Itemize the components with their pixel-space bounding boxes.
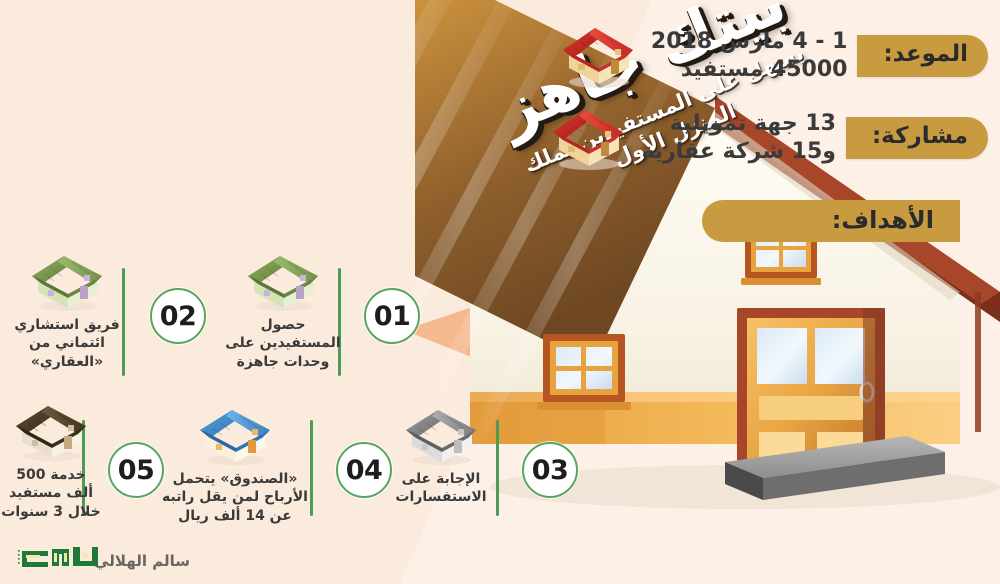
- goal-item-01: حصول المستفيدين على وحدات جاهزة: [224, 250, 342, 371]
- house-red-roof-icon: [545, 100, 631, 176]
- house-green-roof-icon: [240, 250, 326, 312]
- house-brown-roof-icon: [8, 400, 94, 462]
- goal-caption-01-line-3: وحدات جاهزة: [225, 353, 340, 371]
- goal-caption-04-line-2: الأرباح لمن يقل راتبه: [162, 488, 308, 506]
- goal-caption-03-line-1: الإجابة على: [395, 470, 486, 488]
- goal-number-01-label: 01: [374, 301, 411, 332]
- goal-number-05-label: 05: [118, 455, 155, 486]
- goal-caption-02: فريق استشاري ائتماني من «العقاري»: [14, 316, 119, 371]
- goal-number-02[interactable]: 02: [150, 288, 206, 344]
- goal-caption-01: حصول المستفيدين على وحدات جاهزة: [225, 316, 340, 371]
- goal-caption-02-line-3: «العقاري»: [14, 353, 119, 371]
- goals-header: الأهداف:: [702, 200, 960, 242]
- house-red-roof-icon: [555, 18, 641, 94]
- goal-caption-05: خدمة 500 ألف مستفيد خلال 3 سنوات: [1, 466, 101, 521]
- goal-item-02: فريق استشاري ائتماني من «العقاري»: [8, 250, 126, 371]
- goal-caption-02-line-1: فريق استشاري: [14, 316, 119, 334]
- goal-caption-02-line-2: ائتماني من: [14, 334, 119, 352]
- lower-window: [537, 334, 631, 410]
- goal-item-03: الإجابة على الاستفسارات: [382, 404, 500, 507]
- front-door: [737, 308, 885, 466]
- goal-caption-04: «الصندوق» يتحمل الأرباح لمن يقل راتبه عن…: [162, 470, 308, 525]
- goal-caption-04-line-1: «الصندوق» يتحمل: [162, 470, 308, 488]
- okaz-logo[interactable]: [14, 543, 110, 575]
- goal-number-02-label: 02: [160, 301, 197, 332]
- goal-caption-05-line-3: خلال 3 سنوات: [1, 503, 101, 521]
- goal-caption-03: الإجابة على الاستفسارات: [395, 470, 486, 507]
- infographic-canvas: بيتك جاهز يسهل على المستفيدين تملك المنز…: [0, 0, 1000, 584]
- info-value-participation-line-2: و15 شركة عقارية: [641, 138, 835, 166]
- info-row-participation: مشاركة: 13 جهة تمويلية و15 شركة عقارية: [545, 100, 988, 176]
- info-label-participation: مشاركة:: [846, 117, 988, 158]
- goal-divider-04: [310, 420, 313, 516]
- goal-caption-05-line-2: ألف مستفيد: [1, 484, 101, 502]
- info-value-participation: 13 جهة تمويلية و15 شركة عقارية: [641, 110, 835, 166]
- goal-caption-01-line-1: حصول: [225, 316, 340, 334]
- info-value-date-line-2: 45000 مستفيد: [651, 56, 848, 84]
- goal-number-05[interactable]: 05: [108, 442, 164, 498]
- info-value-date-line-1: 1 - 4 مارس 2018: [651, 28, 848, 56]
- house-blue-roof-icon: [192, 404, 278, 466]
- goal-caption-01-line-2: المستفيدين على: [225, 334, 340, 352]
- info-value-date: 1 - 4 مارس 2018 45000 مستفيد: [651, 28, 848, 84]
- goal-caption-04-line-3: عن 14 ألف ريال: [162, 507, 308, 525]
- info-value-participation-line-1: 13 جهة تمويلية: [641, 110, 835, 138]
- goal-caption-03-line-2: الاستفسارات: [395, 488, 486, 506]
- goal-number-03[interactable]: 03: [522, 442, 578, 498]
- goal-number-04-label: 04: [346, 455, 383, 486]
- house-green-roof-icon: [24, 250, 110, 312]
- goal-caption-05-line-1: خدمة 500: [1, 466, 101, 484]
- goal-item-04: «الصندوق» يتحمل الأرباح لمن يقل راتبه عن…: [160, 404, 310, 525]
- info-row-date: الموعد: 1 - 4 مارس 2018 45000 مستفيد: [555, 18, 988, 94]
- goal-number-01[interactable]: 01: [364, 288, 420, 344]
- footer: سالم الهلالي: [0, 536, 1000, 584]
- info-label-date: الموعد:: [857, 35, 988, 76]
- house-gray-roof-icon: [398, 404, 484, 466]
- goal-item-05: خدمة 500 ألف مستفيد خلال 3 سنوات: [0, 400, 110, 521]
- goal-number-03-label: 03: [532, 455, 569, 486]
- footer-divider: [0, 537, 1000, 538]
- goal-number-04[interactable]: 04: [336, 442, 392, 498]
